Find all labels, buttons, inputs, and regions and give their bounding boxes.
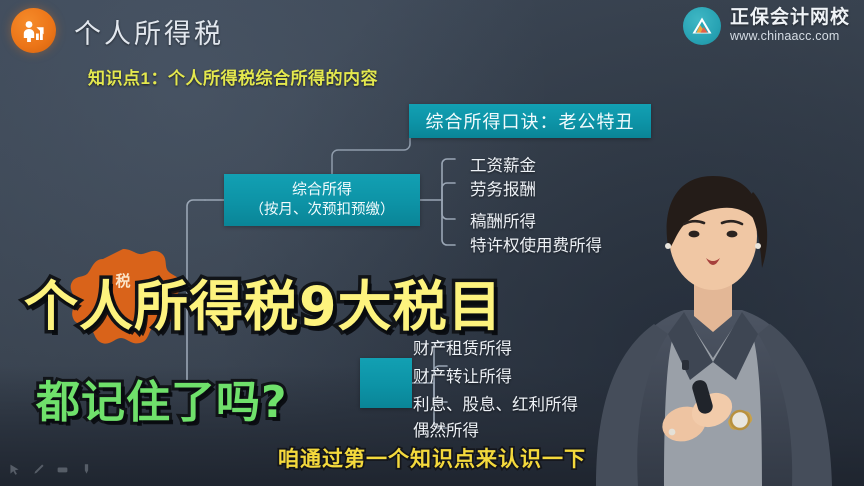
annotation-toolbar[interactable]	[8, 463, 93, 476]
brand-url: www.chinaacc.com	[730, 30, 850, 43]
highlighter-icon[interactable]	[80, 463, 93, 476]
brand-name: 正保会计网校	[730, 8, 850, 28]
pen-icon[interactable]	[32, 463, 45, 476]
leaf-interest-dividend: 利息、股息、红利所得	[413, 391, 578, 415]
mindmap-node-classified	[360, 358, 412, 408]
leaf-property-transfer: 财产转让所得	[413, 363, 512, 387]
leaf-labor-remuneration: 劳务报酬	[470, 176, 536, 200]
video-frame: 个人所得税 知识点1：个人所得税综合所得的内容 正保会计网校 www.china…	[0, 0, 864, 486]
subtitle-caption: 咱通过第一个知识点来认识一下	[0, 443, 864, 473]
node-title: 综合所得	[250, 179, 395, 201]
chinaacc-book-icon	[683, 7, 721, 45]
presenter-video	[556, 118, 864, 486]
brand-logo: 正保会计网校 www.chinaacc.com	[683, 7, 850, 45]
mindmap-node-comprehensive: 综合所得 （按月、次预扣预缴）	[224, 174, 420, 226]
leaf-royalty-manuscript: 稿酬所得	[470, 208, 536, 232]
page-title: 个人所得税	[74, 12, 224, 51]
cursor-icon[interactable]	[8, 463, 21, 476]
knowledge-point-label: 知识点1：个人所得税综合所得的内容	[88, 64, 378, 89]
leaf-salary: 工资薪金	[470, 152, 536, 176]
eraser-icon[interactable]	[56, 463, 69, 476]
leaf-incidental-income: 偶然所得	[413, 417, 479, 441]
overlay-headline: 个人所得税9大税目	[24, 262, 503, 341]
node-subtitle: （按月、次预扣预缴）	[250, 200, 395, 221]
person-chart-icon	[11, 8, 56, 53]
overlay-subline: 都记住了吗?	[36, 366, 288, 430]
